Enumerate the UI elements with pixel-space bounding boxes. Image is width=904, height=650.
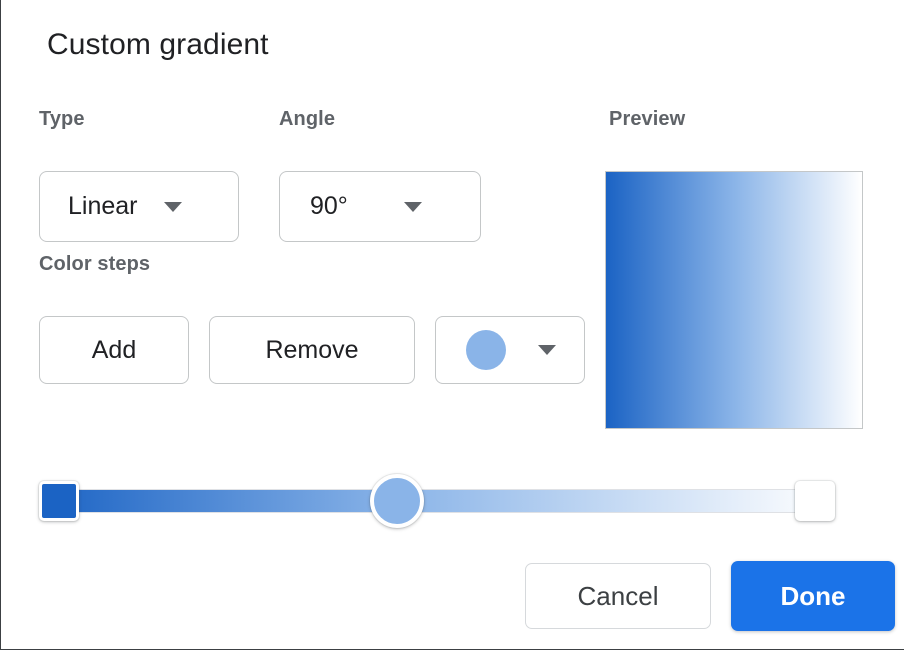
color-swatch-icon	[466, 330, 506, 370]
gradient-preview	[605, 171, 863, 429]
done-button[interactable]: Done	[731, 561, 895, 631]
color-step-color-select[interactable]	[435, 316, 585, 384]
add-color-step-button[interactable]: Add	[39, 316, 189, 384]
gradient-slider-track[interactable]	[39, 489, 835, 513]
preview-label: Preview	[609, 108, 685, 131]
gradient-angle-value: 90°	[280, 192, 348, 221]
gradient-angle-select[interactable]: 90°	[279, 171, 481, 242]
remove-color-step-button[interactable]: Remove	[209, 316, 415, 384]
gradient-type-select[interactable]: Linear	[39, 171, 239, 242]
gradient-stops-slider[interactable]	[39, 478, 835, 524]
type-label: Type	[39, 108, 85, 131]
chevron-down-icon	[538, 345, 556, 355]
gradient-type-value: Linear	[40, 192, 138, 221]
chevron-down-icon	[164, 202, 182, 212]
chevron-down-icon	[404, 202, 422, 212]
angle-label: Angle	[279, 108, 335, 131]
dialog-title: Custom gradient	[47, 28, 269, 62]
color-steps-label: Color steps	[39, 253, 150, 276]
stop-end[interactable]	[795, 481, 835, 521]
stop-middle[interactable]	[370, 474, 424, 528]
stop-start[interactable]	[39, 481, 79, 521]
custom-gradient-dialog: Custom gradient Type Angle Preview Color…	[0, 0, 904, 650]
cancel-button[interactable]: Cancel	[525, 563, 711, 629]
